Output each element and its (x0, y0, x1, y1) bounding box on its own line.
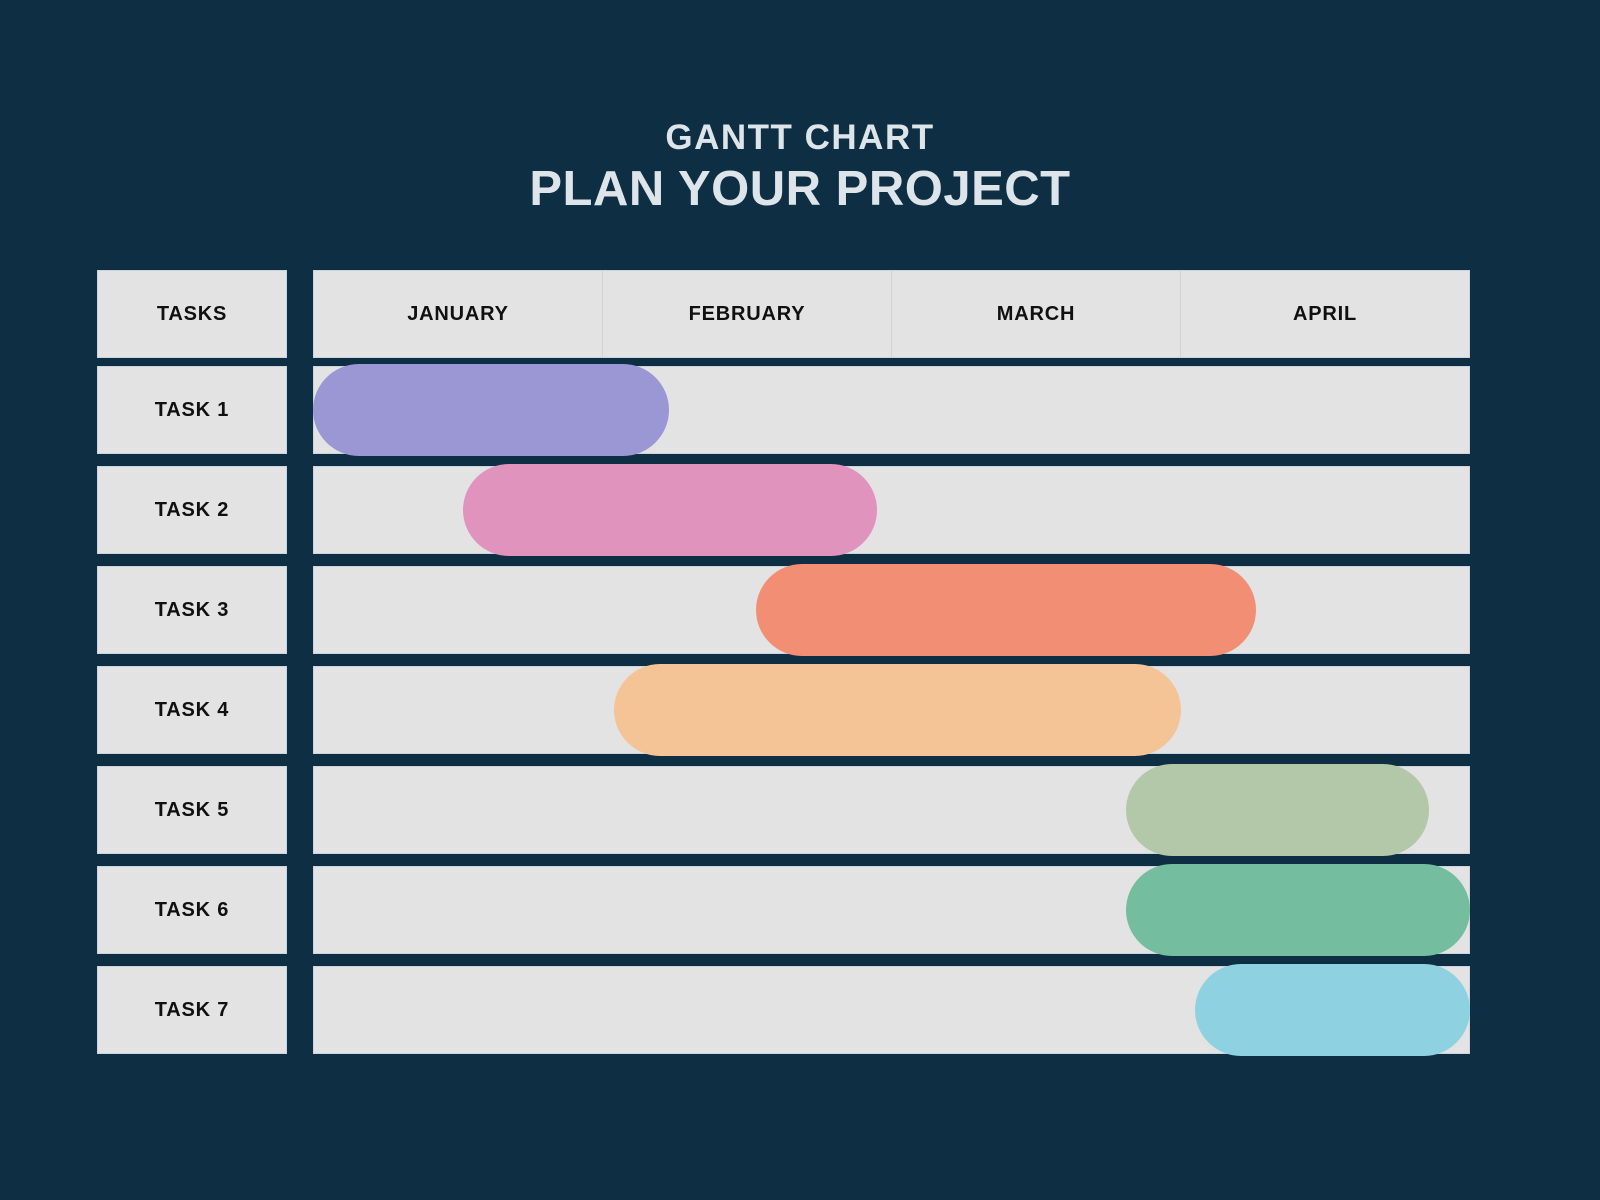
gantt-bar-task-6[interactable] (1126, 864, 1470, 956)
month-label: FEBRUARY (689, 303, 806, 326)
gantt-bar-task-3[interactable] (756, 564, 1256, 656)
gantt-bar-task-2[interactable] (463, 464, 877, 556)
task-label: TASK 3 (155, 599, 229, 622)
gantt-grid: TASKS JANUARYFEBRUARYMARCHAPRIL TASK 1TA… (97, 270, 1470, 1059)
task-label: TASK 6 (155, 899, 229, 922)
month-header-february[interactable]: FEBRUARY (603, 271, 892, 357)
gantt-bar-task-5[interactable] (1126, 764, 1430, 856)
table-row: TASK 6 (97, 866, 1470, 954)
month-label: APRIL (1293, 303, 1357, 326)
chart-title-block: GANTT CHART PLAN YOUR PROJECT (0, 116, 1600, 218)
task-label: TASK 4 (155, 699, 229, 722)
table-row: TASK 4 (97, 666, 1470, 754)
task-label: TASK 2 (155, 499, 229, 522)
task-label: TASK 7 (155, 999, 229, 1022)
task-label-cell-4[interactable]: TASK 4 (97, 666, 287, 754)
table-row: TASK 5 (97, 766, 1470, 854)
task-label-cell-3[interactable]: TASK 3 (97, 566, 287, 654)
task-label: TASK 1 (155, 399, 229, 422)
month-header-march[interactable]: MARCH (892, 271, 1181, 357)
task-label-cell-2[interactable]: TASK 2 (97, 466, 287, 554)
table-header-row: TASKS JANUARYFEBRUARYMARCHAPRIL (97, 270, 1470, 358)
page-title: PLAN YOUR PROJECT (0, 160, 1600, 218)
tasks-column-header: TASKS (97, 270, 287, 358)
task-label-cell-6[interactable]: TASK 6 (97, 866, 287, 954)
task-label-cell-7[interactable]: TASK 7 (97, 966, 287, 1054)
gantt-chart-root: GANTT CHART PLAN YOUR PROJECT TASKS JANU… (0, 0, 1600, 1200)
task-label-cell-1[interactable]: TASK 1 (97, 366, 287, 454)
task-label-cell-5[interactable]: TASK 5 (97, 766, 287, 854)
gantt-bar-task-1[interactable] (313, 364, 669, 456)
tasks-header-label: TASKS (157, 303, 227, 326)
table-row: TASK 1 (97, 366, 1470, 454)
table-row: TASK 2 (97, 466, 1470, 554)
month-header-lane: JANUARYFEBRUARYMARCHAPRIL (313, 270, 1470, 358)
month-header-january[interactable]: JANUARY (314, 271, 603, 357)
month-label: JANUARY (407, 303, 509, 326)
gantt-bar-task-4[interactable] (614, 664, 1181, 756)
table-row: TASK 7 (97, 966, 1470, 1054)
gantt-bar-task-7[interactable] (1195, 964, 1470, 1056)
task-label: TASK 5 (155, 799, 229, 822)
table-row: TASK 3 (97, 566, 1470, 654)
month-header-april[interactable]: APRIL (1181, 271, 1469, 357)
chart-subtitle: GANTT CHART (0, 116, 1600, 160)
month-label: MARCH (997, 303, 1075, 326)
